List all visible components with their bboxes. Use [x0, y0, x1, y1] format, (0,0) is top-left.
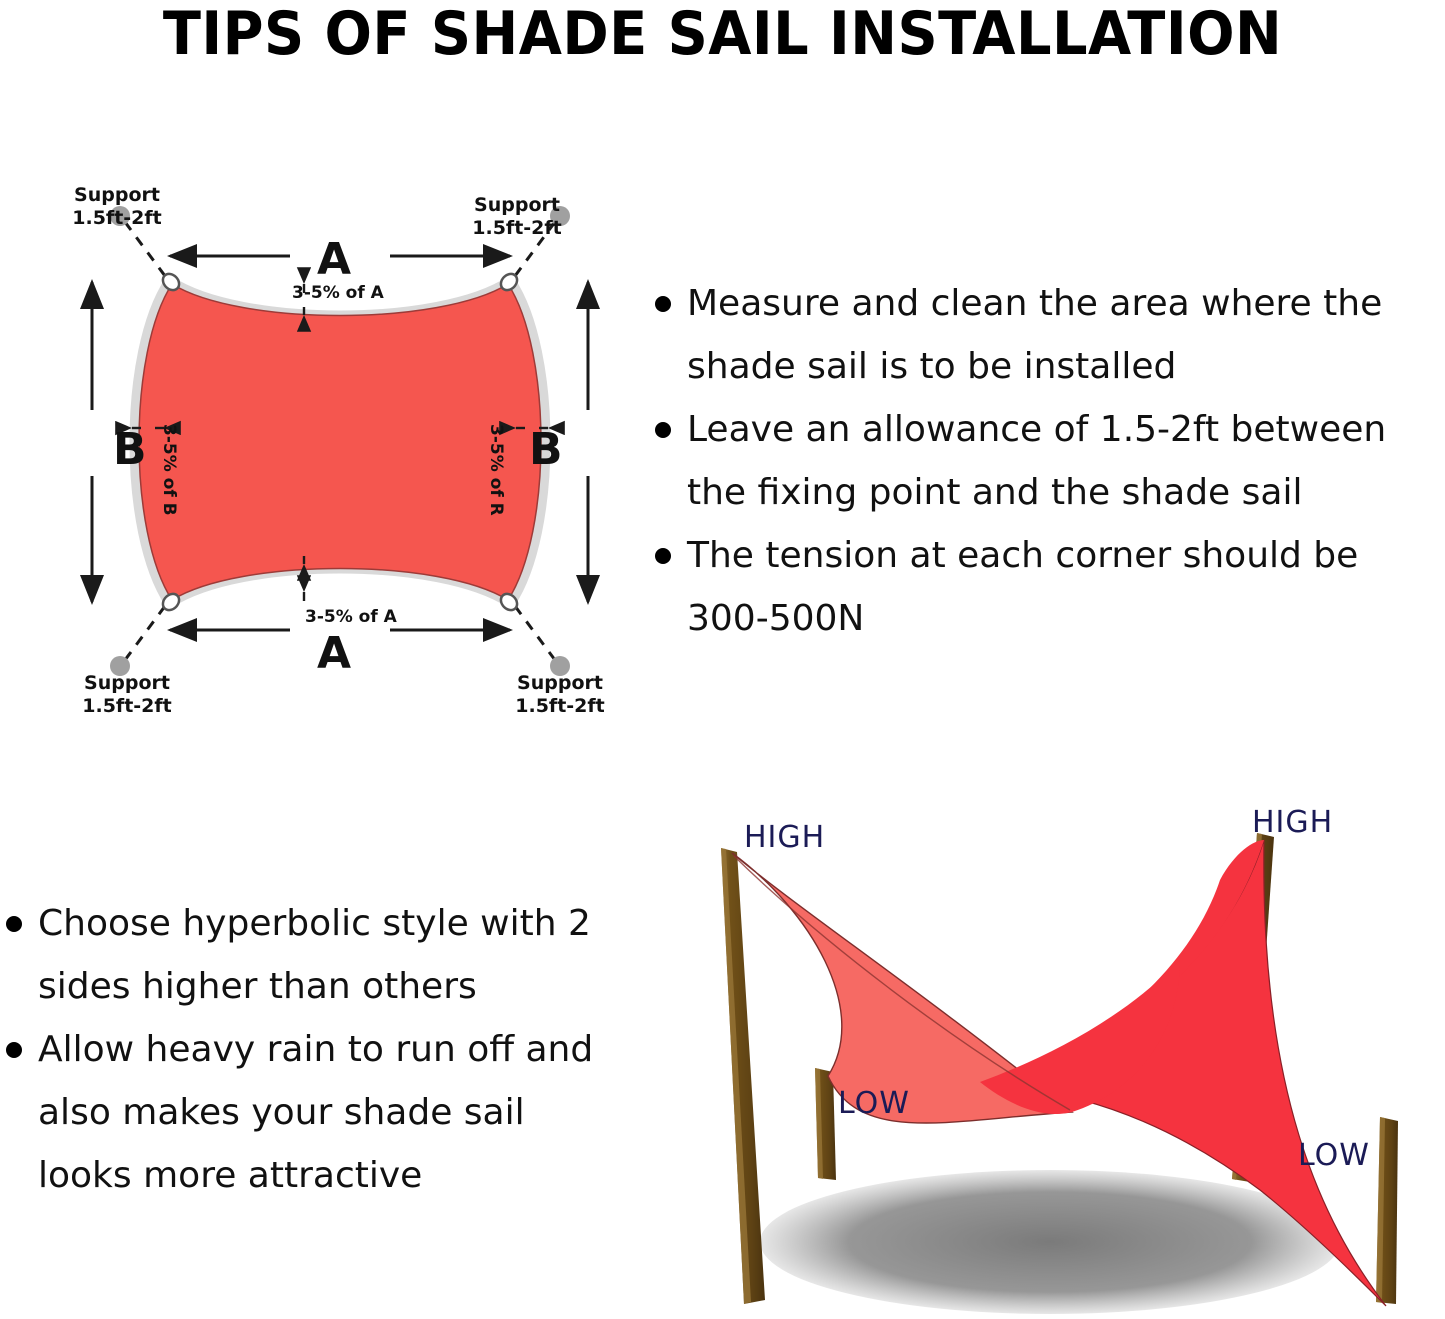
label-high-left: HIGH [744, 820, 825, 855]
hyperbolic-sail-diagram [620, 790, 1445, 1319]
label-low-right: LOW [1298, 1138, 1370, 1173]
dimension-label-B-left: B [113, 428, 147, 472]
dimension-label-B-right: B [529, 428, 563, 472]
list-item: Allow heavy rain to run off and also mak… [6, 1018, 626, 1207]
dimension-label-A-bottom: A [317, 632, 351, 676]
list-item-text: Measure and clean the area where the sha… [687, 272, 1445, 398]
curve-label-top: 3-5% of A [292, 284, 384, 302]
bullet-icon [6, 1042, 22, 1058]
ground-shadow [760, 1170, 1340, 1314]
curve-label-right: 3-5% of R [487, 424, 505, 516]
list-item-text: Choose hyperbolic style with 2 sides hig… [38, 892, 626, 1018]
list-item: Measure and clean the area where the sha… [655, 272, 1445, 398]
page-root: TIPS OF SHADE SAIL INSTALLATION [0, 0, 1445, 1319]
post-low-right [1376, 1117, 1398, 1304]
support-label-bottom-right: Support 1.5ft-2ft [505, 672, 615, 718]
list-item: The tension at each corner should be 300… [655, 524, 1445, 650]
curve-label-left: 3-5% of B [160, 424, 178, 516]
bullet-icon [655, 422, 671, 438]
sail-fabric [139, 284, 541, 600]
bullet-icon [655, 548, 671, 564]
bullet-icon [655, 296, 671, 312]
curve-label-bottom: 3-5% of A [305, 608, 397, 626]
page-title: TIPS OF SHADE SAIL INSTALLATION [51, 2, 1395, 66]
support-label-top-right: Support 1.5ft-2ft [462, 194, 572, 240]
tips-list-left: Choose hyperbolic style with 2 sides hig… [6, 892, 626, 1207]
label-low-left: LOW [838, 1086, 910, 1121]
support-label-bottom-left: Support 1.5ft-2ft [72, 672, 182, 718]
post-high-left [721, 848, 765, 1304]
bullet-icon [6, 916, 22, 932]
label-high-right: HIGH [1252, 805, 1333, 840]
list-item: Leave an allowance of 1.5-2ft between th… [655, 398, 1445, 524]
list-item: Choose hyperbolic style with 2 sides hig… [6, 892, 626, 1018]
tips-list-right: Measure and clean the area where the sha… [655, 272, 1445, 650]
support-label-top-left: Support 1.5ft-2ft [62, 184, 172, 230]
list-item-text: Leave an allowance of 1.5-2ft between th… [687, 398, 1445, 524]
list-item-text: The tension at each corner should be 300… [687, 524, 1445, 650]
hyperbolic-sail-svg [620, 790, 1445, 1319]
list-item-text: Allow heavy rain to run off and also mak… [38, 1018, 626, 1207]
dimension-label-A-top: A [317, 238, 351, 282]
